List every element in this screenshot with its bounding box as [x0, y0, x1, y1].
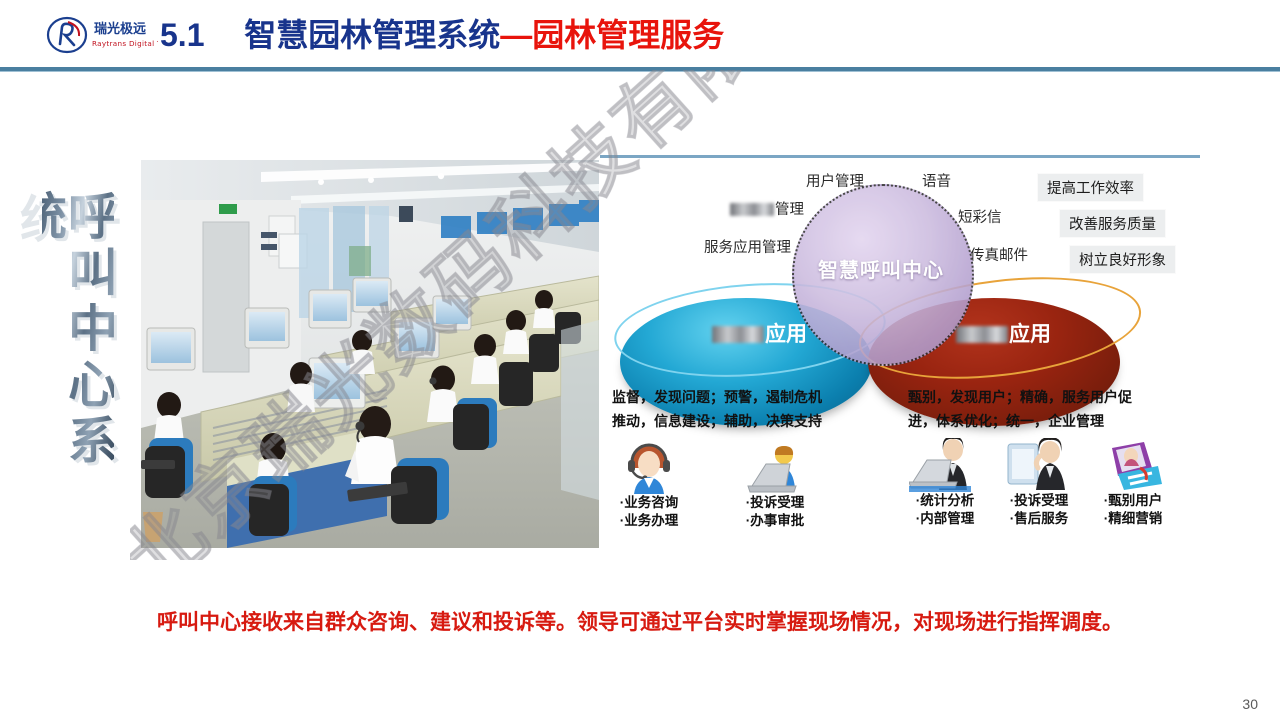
icon-caption: ·投诉受理 ·售后服务	[1010, 492, 1069, 528]
icons-row-right: ·统计分析 ·内部管理 ·投诉受	[904, 438, 1174, 528]
redacted-block-icon	[712, 326, 764, 343]
description-right-line-1: 甄别，发现用户；精确，服务用户促	[908, 386, 1132, 409]
icons-row-left: ·业务咨询 ·业务办理 ·投诉受理 ·	[608, 440, 816, 530]
center-sphere-label: 智慧呼叫中心	[792, 254, 970, 283]
description-right-line-2: 进，体系优化；统一，企业管理	[908, 410, 1104, 433]
icon-cell-complaint-acceptance: ·投诉受理 ·办事审批	[734, 440, 816, 530]
icon-caption: ·甄别用户 ·精细营销	[1104, 492, 1163, 528]
smart-call-center-diagram: 用户管理 语音 管理 短彩信 服务应用管理 传真邮件 提高工作效率 改善服务质量…	[600, 155, 1200, 553]
svg-text:Raytrans Digital Tech: Raytrans Digital Tech	[92, 39, 158, 48]
ellipse-left-label: 应用	[712, 318, 807, 348]
phone-support-icon	[998, 438, 1080, 492]
slide: 瑞光极远 Raytrans Digital Tech 5.1 智慧园林管理系统—…	[0, 0, 1280, 720]
headset-operator-icon	[608, 440, 690, 494]
diagram-label-fax-email: 传真邮件	[970, 244, 1028, 265]
analyst-laptop-icon	[904, 438, 986, 492]
diagram-label-sms-mms: 短彩信	[958, 206, 1002, 227]
page-number: 30	[1242, 696, 1258, 712]
icon-cell-business-consult: ·业务咨询 ·业务办理	[608, 440, 690, 530]
ellipse-right-label: 应用	[956, 318, 1051, 348]
benefit-box-3: 树立良好形象	[1070, 246, 1175, 273]
icon-cell-customer-profiling: ·甄别用户 ·精细营销	[1092, 438, 1174, 528]
description-left-line-1: 监督，发现问题；预警，遏制危机	[612, 386, 822, 409]
call-center-photo	[141, 160, 599, 548]
slide-header: 瑞光极远 Raytrans Digital Tech 5.1 智慧园林管理系统—…	[0, 0, 1280, 70]
diagram-label-service-app-management: 服务应用管理	[704, 236, 791, 257]
benefit-box-1: 提高工作效率	[1038, 174, 1143, 201]
title-sub: —园林管理服务	[500, 17, 724, 53]
page-title: 5.1 智慧园林管理系统—园林管理服务	[160, 14, 724, 56]
icon-caption: ·业务咨询 ·业务办理	[620, 494, 679, 530]
header-divider-light	[0, 71, 1280, 72]
redacted-block-icon	[730, 203, 774, 216]
icon-cell-statistics-analysis: ·统计分析 ·内部管理	[904, 438, 986, 528]
icon-cell-after-sales: ·投诉受理 ·售后服务	[998, 438, 1080, 528]
description-left-line-2: 推动，信息建设；辅助，决策支持	[612, 410, 822, 433]
redacted-block-icon	[956, 326, 1008, 343]
crm-profile-icon	[1092, 438, 1174, 492]
raytrans-logo: 瑞光极远 Raytrans Digital Tech	[46, 14, 158, 56]
diagram-label-voice: 语音	[922, 170, 951, 191]
icon-caption: ·统计分析 ·内部管理	[916, 492, 975, 528]
title-number: 5.1	[160, 17, 204, 53]
svg-text:瑞光极远: 瑞光极远	[94, 21, 146, 37]
title-main: 智慧园林管理系统	[244, 17, 500, 53]
side-title: 呼叫中心系统	[42, 190, 114, 510]
slide-caption: 呼叫中心接收来自群众咨询、建议和投诉等。领导可通过平台实时掌握现场情况，对现场进…	[0, 606, 1280, 636]
icon-caption: ·投诉受理 ·办事审批	[746, 494, 805, 530]
diagram-label-redacted-management: 管理	[730, 198, 804, 219]
laptop-agent-icon	[734, 440, 816, 494]
benefit-box-2: 改善服务质量	[1060, 210, 1165, 237]
